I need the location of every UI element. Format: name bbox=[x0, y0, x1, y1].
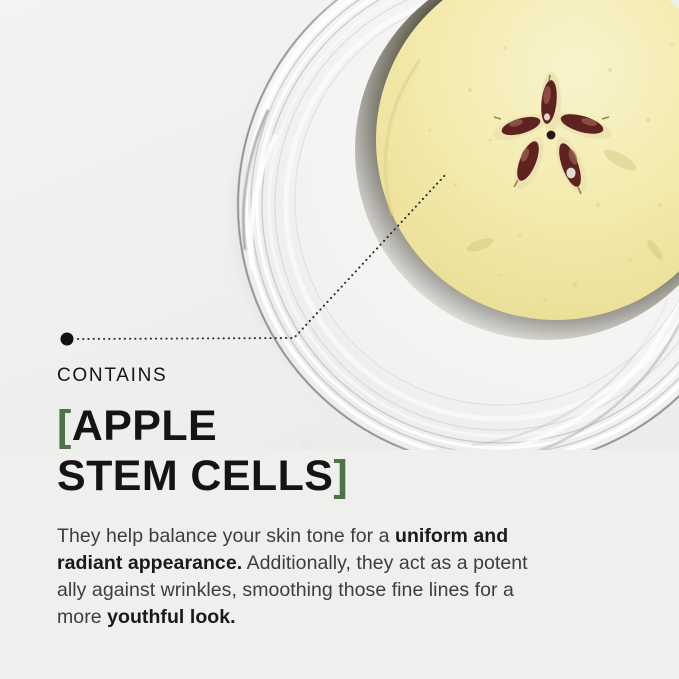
headline-line-1: [APPLE bbox=[57, 401, 577, 451]
headline-line-2: STEM CELLS] bbox=[57, 451, 577, 501]
headline-word-apple: APPLE bbox=[72, 402, 217, 450]
page-title: [APPLE STEM CELLS] bbox=[57, 401, 577, 501]
body-copy: They help balance your skin tone for a u… bbox=[57, 523, 557, 631]
headline-word-stem-cells: STEM CELLS bbox=[57, 452, 333, 500]
body-segment-0: They help balance your skin tone for a bbox=[57, 525, 395, 547]
close-bracket: ] bbox=[333, 452, 348, 500]
body-segment-3: youthful look. bbox=[107, 606, 236, 628]
eyebrow-label: CONTAINS bbox=[57, 366, 577, 385]
open-bracket: [ bbox=[57, 402, 72, 450]
callout-text-block: CONTAINS [APPLE STEM CELLS] They help ba… bbox=[57, 366, 577, 631]
infographic-canvas: CONTAINS [APPLE STEM CELLS] They help ba… bbox=[0, 0, 679, 679]
